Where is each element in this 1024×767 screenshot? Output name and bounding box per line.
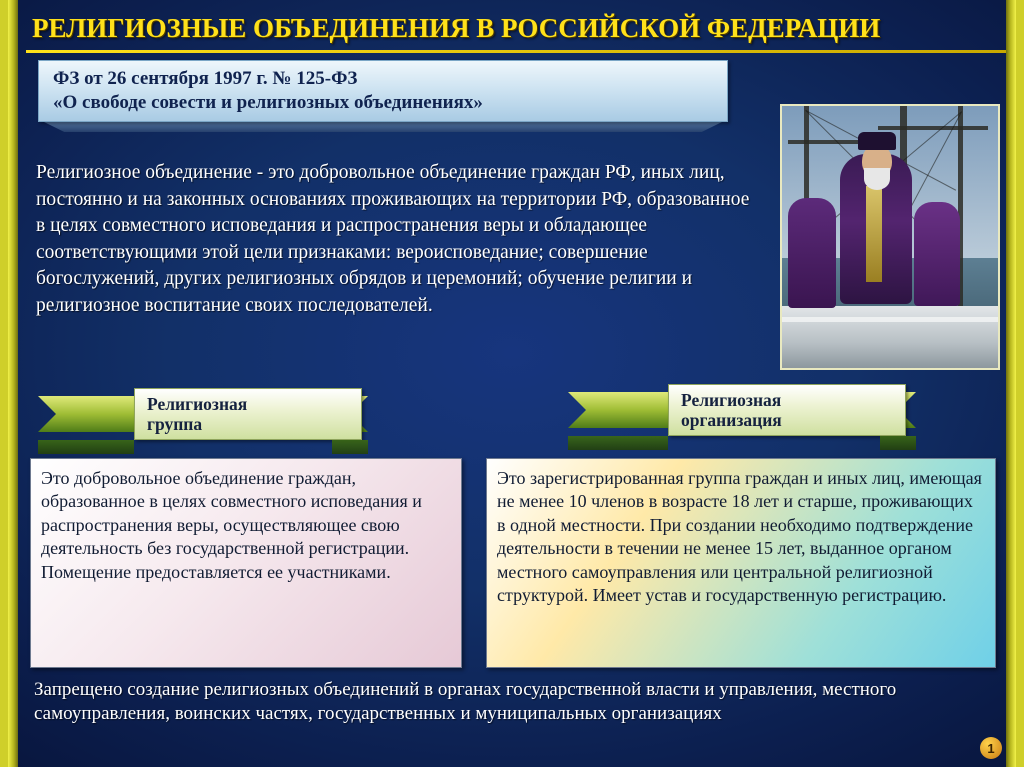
page-title: РЕЛИГИОЗНЫЕ ОБЪЕДИНЕНИЯ В РОССИЙСКОЙ ФЕД…	[32, 13, 880, 44]
ribbon-group-line2: группа	[147, 414, 349, 434]
priest-beard	[864, 168, 890, 190]
ribbon-org-fold-left	[568, 436, 668, 450]
ribbon-tail-left	[568, 392, 670, 428]
page-number-badge: 1	[980, 737, 1002, 759]
ribbon-religious-group: Религиозная группа	[38, 388, 368, 440]
ship-rail	[782, 317, 998, 322]
panel-religious-organization: Это зарегистрированная группа граждан и …	[486, 458, 996, 668]
bottom-note: Запрещено создание религиозных объединен…	[34, 678, 984, 727]
ribbon-label-plate: Религиозная организация	[668, 384, 906, 436]
law-banner-line2: «О свободе совести и религиозных объедин…	[53, 91, 713, 115]
law-banner-line1: ФЗ от 26 сентября 1997 г. № 125-ФЗ	[53, 67, 713, 91]
ribbon-org-line2: организация	[681, 410, 893, 430]
priest-stole	[866, 186, 882, 282]
ribbon-label-plate: Религиозная группа	[134, 388, 362, 440]
panel-organization-text: Это зарегистрированная группа граждан и …	[497, 467, 985, 607]
ribbon-org-fold-right	[880, 436, 916, 450]
ribbon-group-fold-right	[332, 440, 368, 454]
ribbon-religious-organization: Религиозная организация	[568, 384, 916, 436]
panel-group-text: Это добровольное объединение граждан, об…	[41, 467, 451, 584]
ship-yard-2	[878, 126, 988, 130]
photo-priest-on-ship	[780, 104, 1000, 370]
ribbon-org-line1: Религиозная	[681, 390, 893, 410]
law-banner-shadow	[44, 122, 722, 132]
title-divider	[26, 50, 1014, 53]
clergy-figure-left	[788, 198, 836, 308]
clergy-figure-right	[914, 202, 960, 306]
ribbon-group-fold-left	[38, 440, 134, 454]
slide-title-bar: РЕЛИГИОЗНЫЕ ОБЪЕДИНЕНИЯ В РОССИЙСКОЙ ФЕД…	[32, 8, 1000, 48]
priest-hat	[858, 132, 896, 150]
definition-paragraph: Религиозное объединение - это добровольн…	[36, 160, 756, 319]
ribbon-group-line1: Религиозная	[147, 394, 349, 414]
ship-deck	[782, 306, 998, 368]
ribbon-tail-left	[38, 396, 140, 432]
panel-religious-group: Это добровольное объединение граждан, об…	[30, 458, 462, 668]
law-banner: ФЗ от 26 сентября 1997 г. № 125-ФЗ «О св…	[38, 60, 728, 122]
slide-root: РЕЛИГИОЗНЫЕ ОБЪЕДИНЕНИЯ В РОССИЙСКОЙ ФЕД…	[0, 0, 1024, 767]
